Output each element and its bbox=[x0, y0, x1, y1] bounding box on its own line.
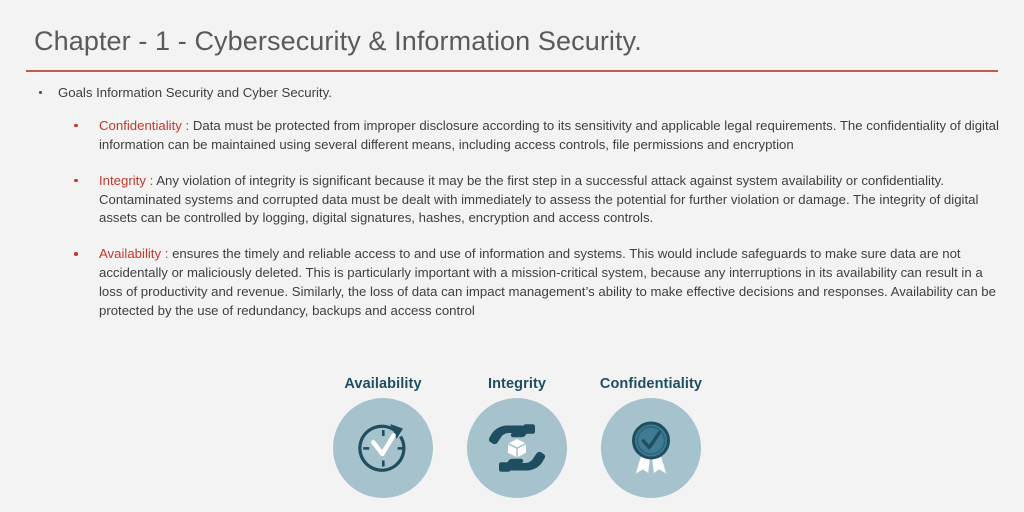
icon-cell-availability: Availability bbox=[332, 376, 434, 498]
cia-triad-graphic: Availability bbox=[332, 376, 702, 498]
icon-disc-integrity bbox=[467, 398, 567, 498]
icon-label-availability: Availability bbox=[344, 376, 421, 392]
keyword-separator: : bbox=[182, 118, 193, 133]
keyword-confidentiality: Confidentiality bbox=[99, 118, 182, 133]
icon-disc-confidentiality bbox=[601, 398, 701, 498]
list-item-integrity: Integrity : Any violation of integrity i… bbox=[0, 172, 1024, 229]
icon-cell-integrity: Integrity bbox=[466, 376, 568, 498]
page-title: Chapter - 1 - Cybersecurity & Informatio… bbox=[34, 26, 642, 57]
paragraph-availability: ensures the timely and reliable access t… bbox=[99, 246, 996, 318]
hands-holding-cube-icon bbox=[480, 411, 554, 485]
slide-canvas: Chapter - 1 - Cybersecurity & Informatio… bbox=[0, 0, 1024, 512]
title-divider bbox=[26, 70, 998, 72]
content-body: Goals Information Security and Cyber Sec… bbox=[0, 84, 1024, 338]
paragraph-integrity: Any violation of integrity is significan… bbox=[99, 173, 978, 226]
clock-arrow-check-icon bbox=[346, 411, 420, 485]
intro-text: Goals Information Security and Cyber Sec… bbox=[58, 85, 332, 100]
keyword-separator: : bbox=[146, 173, 156, 188]
keyword-separator: : bbox=[161, 246, 172, 261]
icon-cell-confidentiality: Confidentiality bbox=[600, 376, 702, 498]
icon-disc-availability bbox=[333, 398, 433, 498]
bullet-dot-icon bbox=[39, 91, 42, 94]
bullet-dot-icon bbox=[74, 179, 78, 183]
list-item-availability: Availability : ensures the timely and re… bbox=[0, 245, 1024, 321]
list-item-intro: Goals Information Security and Cyber Sec… bbox=[0, 84, 1024, 103]
bullet-dot-icon bbox=[74, 252, 78, 256]
paragraph-confidentiality: Data must be protected from improper dis… bbox=[99, 118, 999, 152]
list-item-confidentiality: Confidentiality : Data must be protected… bbox=[0, 117, 1024, 155]
icon-label-integrity: Integrity bbox=[488, 376, 546, 392]
keyword-integrity: Integrity bbox=[99, 173, 146, 188]
ribbon-check-badge-icon bbox=[614, 411, 688, 485]
bullet-dot-icon bbox=[74, 124, 78, 128]
icon-label-confidentiality: Confidentiality bbox=[600, 376, 702, 392]
keyword-availability: Availability bbox=[99, 246, 161, 261]
